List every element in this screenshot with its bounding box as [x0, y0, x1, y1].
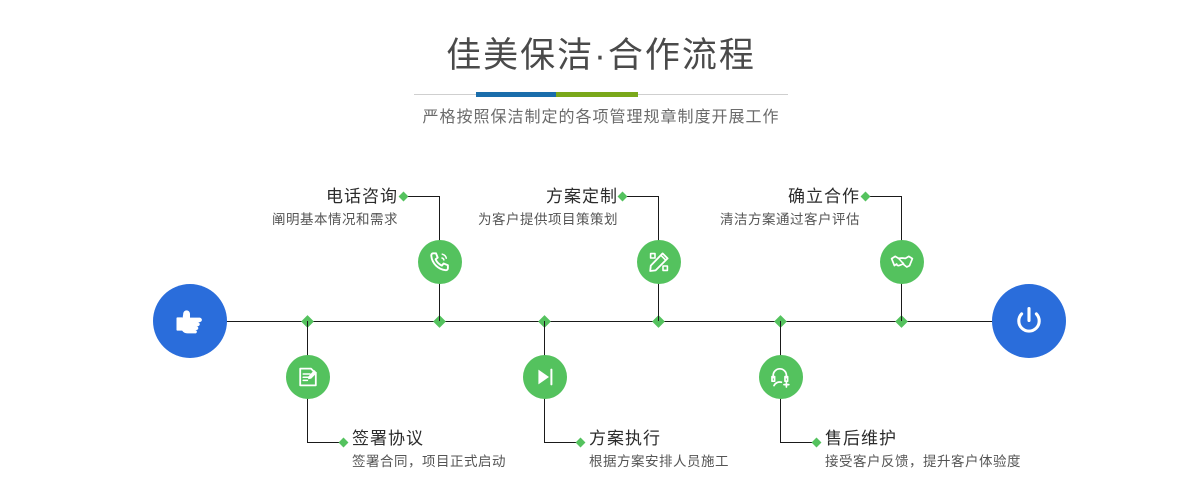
- page-title: 佳美保洁·合作流程: [0, 34, 1202, 78]
- step-title-5: 售后维护: [825, 428, 1075, 450]
- handshake-icon: [889, 249, 915, 275]
- divider-segment-blue: [476, 92, 556, 97]
- step-label-1: 电话咨询 阐明基本情况和需求: [243, 186, 398, 230]
- step-label-5: 售后维护 接受客户反馈，提升客户体验度: [825, 428, 1075, 472]
- step-label-6: 确立合作 清洁方案通过客户评估: [700, 186, 860, 230]
- step-desc-4: 根据方案安排人员施工: [589, 452, 809, 472]
- step-label-4: 方案执行 根据方案安排人员施工: [589, 428, 809, 472]
- step-desc-6: 清洁方案通过客户评估: [700, 210, 860, 230]
- step-node-5[interactable]: [759, 355, 803, 399]
- page-subtitle: 严格按照保洁制定的各项管理规章制度开展工作: [0, 107, 1202, 129]
- step-label-3: 方案定制 为客户提供项目策策划: [458, 186, 618, 230]
- step-desc-1: 阐明基本情况和需求: [243, 210, 398, 230]
- step-title-1: 电话咨询: [243, 186, 398, 208]
- step-node-6[interactable]: [880, 240, 924, 284]
- step-node-3[interactable]: [637, 240, 681, 284]
- step-title-4: 方案执行: [589, 428, 809, 450]
- phone-call-icon: [427, 249, 453, 275]
- title-divider: [414, 92, 788, 97]
- step-label-2: 签署协议 签署合同，项目正式启动: [352, 428, 582, 472]
- infographic-canvas: 佳美保洁·合作流程 严格按照保洁制定的各项管理规章制度开展工作: [0, 0, 1202, 502]
- divider-segment-green: [556, 92, 638, 97]
- label-marker-2: [339, 438, 349, 448]
- step-node-2[interactable]: [286, 355, 330, 399]
- headset-support-icon: [768, 364, 794, 390]
- play-execute-icon: [532, 364, 558, 390]
- pencil-design-icon: [646, 249, 672, 275]
- pointing-hand-icon: [170, 301, 210, 341]
- header: 佳美保洁·合作流程 严格按照保洁制定的各项管理规章制度开展工作: [0, 34, 1202, 129]
- timeline-start-endpoint: [153, 284, 227, 358]
- connector-hline-6: [866, 196, 902, 197]
- step-title-3: 方案定制: [458, 186, 618, 208]
- step-desc-3: 为客户提供项目策策划: [458, 210, 618, 230]
- connector-hline-3: [623, 196, 659, 197]
- step-desc-5: 接受客户反馈，提升客户体验度: [825, 452, 1075, 472]
- step-node-1[interactable]: [418, 240, 462, 284]
- step-node-4[interactable]: [523, 355, 567, 399]
- timeline-end-endpoint: [992, 284, 1066, 358]
- label-marker-1: [399, 192, 409, 202]
- label-marker-5: [812, 438, 822, 448]
- label-marker-6: [861, 192, 871, 202]
- label-marker-3: [618, 192, 628, 202]
- step-title-2: 签署协议: [352, 428, 582, 450]
- connector-hline-1: [404, 196, 440, 197]
- step-title-6: 确立合作: [700, 186, 860, 208]
- step-desc-2: 签署合同，项目正式启动: [352, 452, 582, 472]
- power-icon: [1009, 301, 1049, 341]
- document-edit-icon: [295, 364, 321, 390]
